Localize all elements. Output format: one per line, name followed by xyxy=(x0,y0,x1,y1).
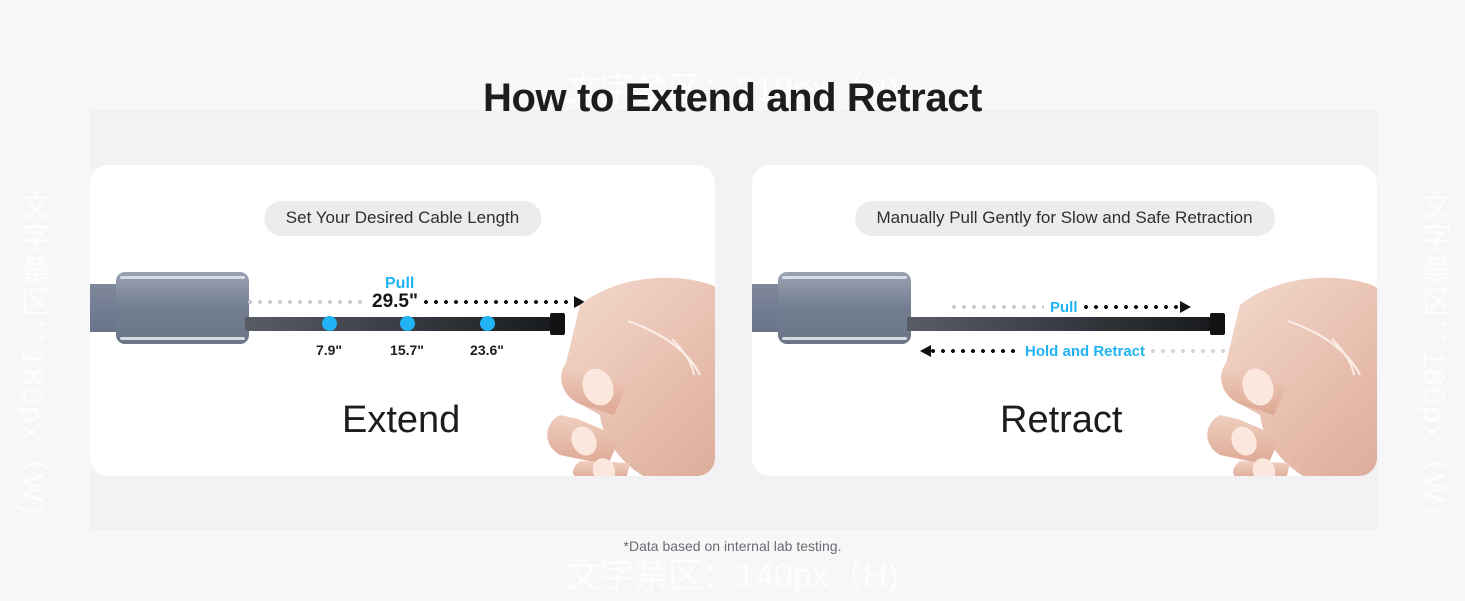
extend-marker-label-3: 23.6" xyxy=(470,342,504,358)
footnote: *Data based on internal lab testing. xyxy=(0,538,1465,554)
extend-pill-label: Set Your Desired Cable Length xyxy=(264,201,541,236)
arrow-left-icon xyxy=(920,345,931,357)
dotted-line-dark xyxy=(931,349,1019,353)
dotted-line-dark xyxy=(1084,305,1180,309)
retract-hold-arrow-row: Hold and Retract xyxy=(920,342,1220,360)
extend-marker-1 xyxy=(322,316,337,331)
retract-pull-label: Pull xyxy=(1044,299,1084,316)
extend-marker-label-2: 15.7" xyxy=(390,342,424,358)
card-retract: Manually Pull Gently for Slow and Safe R… xyxy=(752,165,1377,476)
watermark-left: 文字禁区：180px（W) xyxy=(10,190,54,516)
retract-pull-arrow-row: Pull xyxy=(952,298,1202,316)
extend-hand-icon xyxy=(522,265,715,476)
retract-pill-label: Manually Pull Gently for Slow and Safe R… xyxy=(854,201,1274,236)
watermark-right: 文字禁区：180px（W) xyxy=(1411,190,1455,516)
dotted-line-faint xyxy=(952,305,1044,309)
retract-hold-label: Hold and Retract xyxy=(1019,343,1151,360)
retract-big-label: Retract xyxy=(1000,399,1122,442)
retract-connector-body xyxy=(778,272,911,344)
watermark-bottom: 文字禁区：140px（H) xyxy=(0,548,1465,597)
card-extend: Set Your Desired Cable Length Pull 29.5"… xyxy=(90,165,715,476)
extend-marker-3 xyxy=(480,316,495,331)
page-title: How to Extend and Retract xyxy=(0,76,1465,121)
retract-cable xyxy=(907,317,1217,331)
extend-marker-label-1: 7.9" xyxy=(316,342,342,358)
extend-connector-body xyxy=(116,272,249,344)
dotted-line-faint xyxy=(248,300,366,304)
extend-marker-2 xyxy=(400,316,415,331)
extend-big-label: Extend xyxy=(342,399,460,442)
retract-hand-icon xyxy=(1182,265,1377,476)
extend-total-length: 29.5" xyxy=(366,291,424,313)
